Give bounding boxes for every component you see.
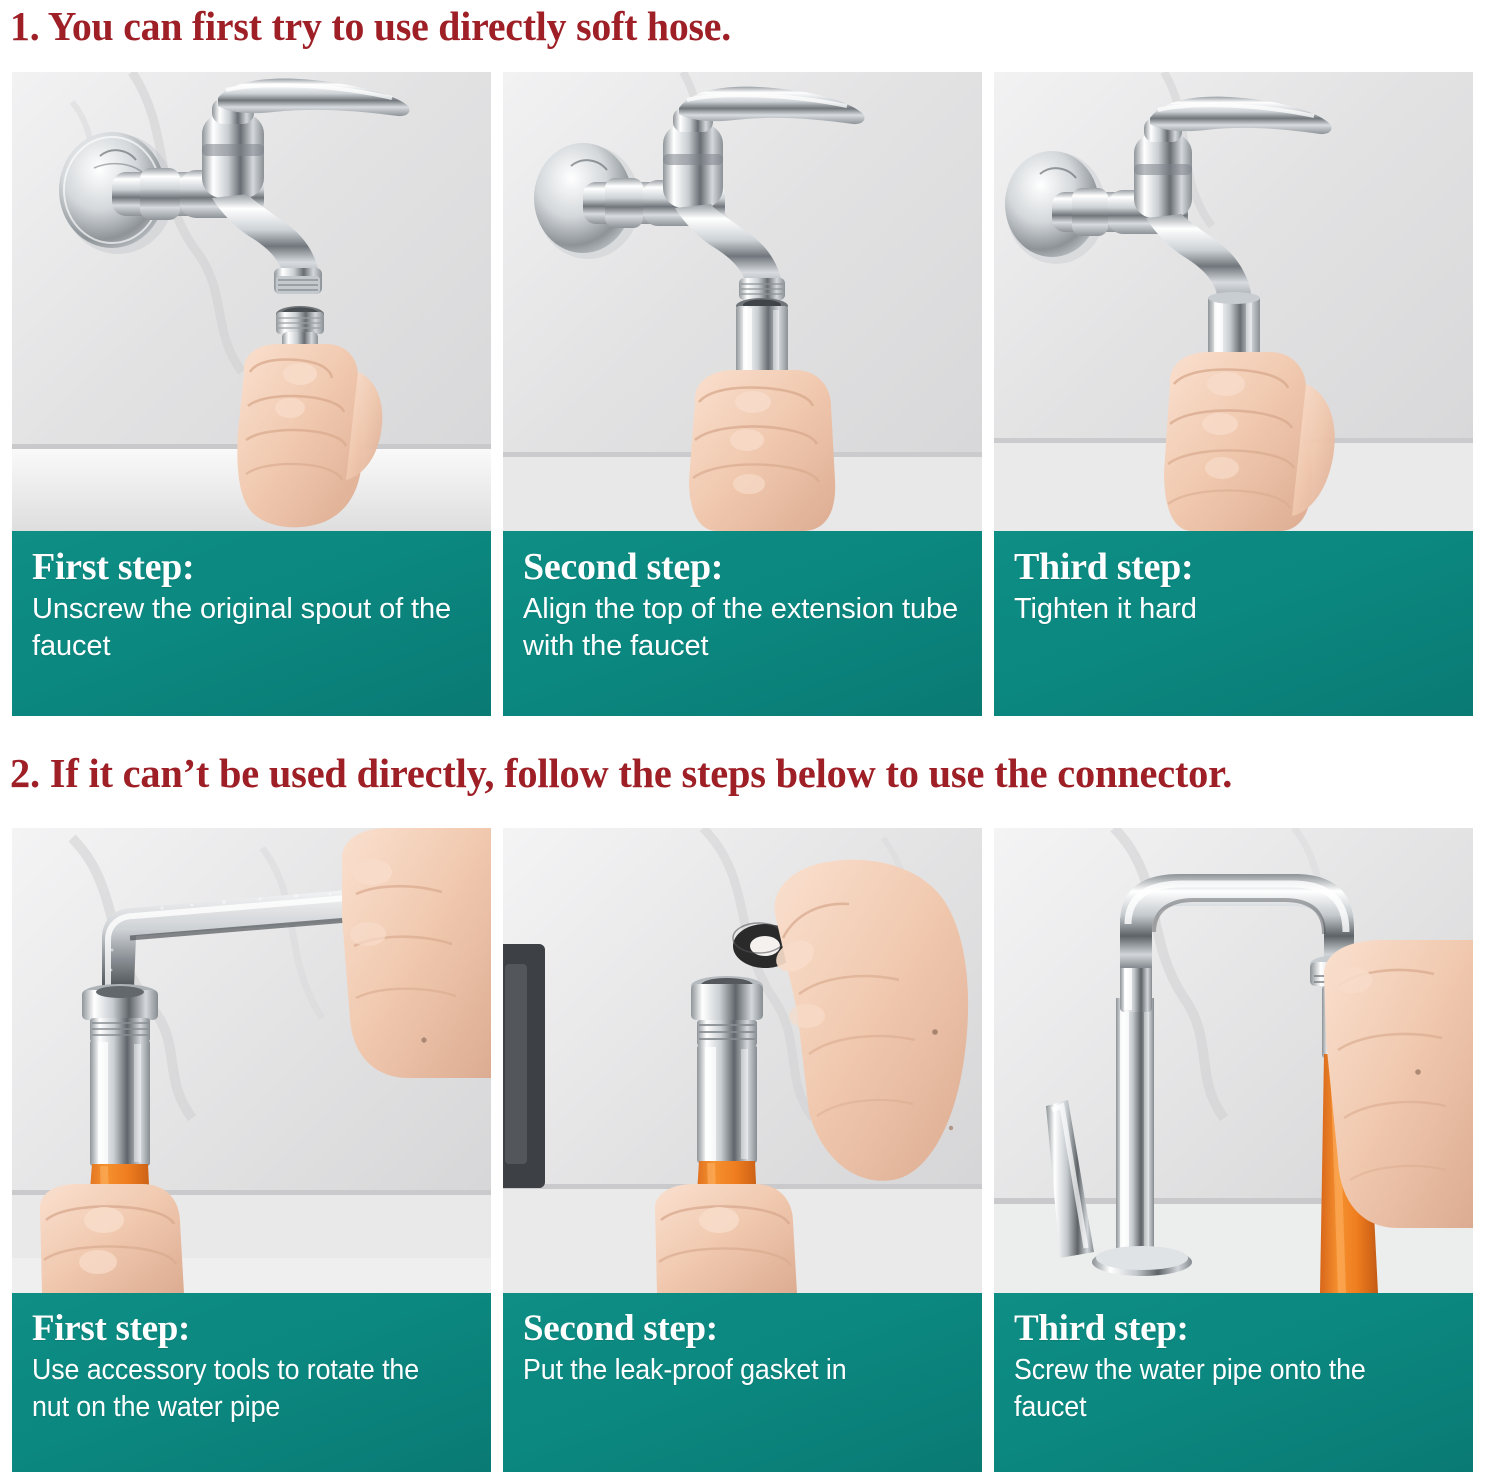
section-heading-1: 1. You can first try to use directly sof… xyxy=(10,2,731,50)
step-panel-1-2: Second step: Align the top of the extens… xyxy=(503,72,982,716)
step-body: Unscrew the original spout of the faucet xyxy=(32,591,471,665)
wall-faucet-align-tube-illustration xyxy=(503,72,982,531)
step-caption-1-2: Second step: Align the top of the extens… xyxy=(503,531,982,716)
instruction-sheet: 1. You can first try to use directly sof… xyxy=(0,0,1500,1472)
step-caption-1-1: First step: Unscrew the original spout o… xyxy=(12,531,491,716)
step-body: Screw the water pipe onto the faucet xyxy=(1014,1352,1427,1425)
step-panel-2-1: First step: Use accessory tools to rotat… xyxy=(12,828,491,1472)
step-body: Tighten it hard xyxy=(1014,591,1453,628)
step-title: Third step: xyxy=(1014,547,1453,587)
step-body: Align the top of the extension tube with… xyxy=(523,591,962,665)
step-photo-1-2 xyxy=(503,72,982,531)
wall-faucet-tighten-illustration xyxy=(994,72,1473,531)
wall-faucet-spout-removed-illustration xyxy=(12,72,491,531)
step-panel-2-2: Second step: Put the leak-proof gasket i… xyxy=(503,828,982,1472)
step-title: First step: xyxy=(32,547,471,587)
step-title: First step: xyxy=(32,1309,471,1348)
step-panel-1-3: Third step: Tighten it hard xyxy=(994,72,1473,716)
section-heading-2: 2. If it can’t be used directly, follow … xyxy=(10,749,1232,797)
step-photo-2-3 xyxy=(994,828,1473,1293)
step-panel-1-1: First step: Unscrew the original spout o… xyxy=(12,72,491,716)
step-caption-2-1: First step: Use accessory tools to rotat… xyxy=(12,1293,491,1472)
step-photo-1-1 xyxy=(12,72,491,531)
screw-onto-kitchen-faucet-illustration xyxy=(994,828,1473,1293)
step-photo-2-2 xyxy=(503,828,982,1293)
step-photo-1-3 xyxy=(994,72,1473,531)
step-row-1: First step: Unscrew the original spout o… xyxy=(0,72,1500,716)
step-photo-2-1 xyxy=(12,828,491,1293)
hex-key-rotate-nut-illustration xyxy=(12,828,491,1293)
step-caption-1-3: Third step: Tighten it hard xyxy=(994,531,1473,716)
step-caption-2-3: Third step: Screw the water pipe onto th… xyxy=(994,1293,1473,1472)
step-body: Use accessory tools to rotate the nut on… xyxy=(32,1352,445,1425)
step-row-2: First step: Use accessory tools to rotat… xyxy=(0,828,1500,1472)
step-panel-2-3: Third step: Screw the water pipe onto th… xyxy=(994,828,1473,1472)
step-title: Second step: xyxy=(523,1309,962,1348)
step-title: Second step: xyxy=(523,547,962,587)
step-title: Third step: xyxy=(1014,1309,1453,1348)
insert-gasket-illustration xyxy=(503,828,982,1293)
step-caption-2-2: Second step: Put the leak-proof gasket i… xyxy=(503,1293,982,1472)
step-body: Put the leak-proof gasket in xyxy=(523,1352,936,1388)
